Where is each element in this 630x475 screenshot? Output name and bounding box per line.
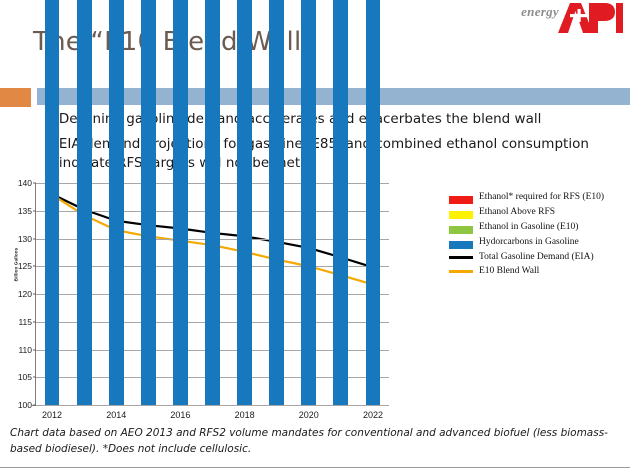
legend-swatch-icon [449,256,473,259]
y-tick-label: 120 [18,289,32,299]
y-tick-label: 100 [18,400,32,410]
legend-swatch-icon [449,270,473,273]
legend-item-ethanol-in-gasoline: Ethanol in Gasoline (E10) [449,221,627,234]
chart-bar [77,183,92,405]
y-tick-mark [33,238,36,239]
bar-segment [366,0,381,405]
y-tick-mark [33,210,36,211]
bullet-text: Declining gasoline demand accelerates an… [59,110,541,129]
bar-segment [77,0,92,405]
chart-bar [173,183,188,405]
y-tick-mark [33,266,36,267]
chart-footnote: Chart data based on AEO 2013 and RFS2 vo… [10,425,610,457]
x-tick-label: 2014 [106,410,126,420]
y-tick-mark [33,183,36,184]
chart-bar [301,183,316,405]
chart-legend: Ethanol* required for RFS (E10)Ethanol A… [449,191,627,279]
chart-bar [366,183,381,405]
bar-segment [45,0,60,405]
y-tick-label: 135 [18,206,32,216]
x-tick-label: 2022 [363,410,383,420]
x-tick-label: 2016 [170,410,190,420]
y-tick-label: 125 [18,261,32,271]
x-tick-label: 2012 [42,410,62,420]
legend-swatch-icon [449,211,473,219]
y-tick-label: 130 [18,234,32,244]
x-tick-label: 2020 [299,410,319,420]
chart-bar [333,183,348,405]
legend-label: Ethanol in Gasoline (E10) [479,221,624,233]
api-energy-logo: energy [521,2,624,36]
y-tick-mark [33,294,36,295]
chart-plot-area: 1001051101151201251301351402012201420162… [36,183,389,405]
legend-swatch-icon [449,196,473,204]
chart-bar [141,183,156,405]
legend-label: Ethanol Above RFS [479,206,624,218]
x-tick-label: 2018 [235,410,255,420]
logo-energy-word: energy [521,4,559,20]
band-orange-block [0,88,31,107]
bar-segment [269,0,284,405]
y-tick-mark [33,321,36,322]
y-tick-label: 140 [18,178,32,188]
legend-item-hydrocarbons-in-gasoline: Hydorcarbons in Gasoline [449,236,627,249]
api-logo-icon [556,2,624,34]
chart-bar [109,183,124,405]
legend-item-ethanol-required-rfs: Ethanol* required for RFS (E10) [449,191,627,204]
legend-label: Total Gasoline Demand (EIA) [479,251,624,263]
bottom-divider [0,467,630,468]
y-tick-mark [33,349,36,350]
legend-label: Ethanol* required for RFS (E10) [479,191,624,203]
y-tick-mark [33,377,36,378]
bar-segment [333,0,348,405]
grid-line [36,405,389,406]
y-tick-label: 105 [18,372,32,382]
y-tick-label: 110 [18,345,32,355]
legend-item-ethanol-above-rfs: Ethanol Above RFS [449,206,627,219]
legend-label: Hydorcarbons in Gasoline [479,236,624,248]
y-tick-label: 115 [18,317,32,327]
bar-segment [237,0,252,405]
chart-bar [45,183,60,405]
legend-swatch-icon [449,226,473,234]
bar-segment [301,0,316,405]
y-tick-mark [33,405,36,406]
bar-segment [205,0,220,405]
chart-bar [237,183,252,405]
bar-segment [109,0,124,405]
legend-swatch-icon [449,241,473,249]
legend-label: E10 Blend Wall [479,265,624,277]
bar-segment [173,0,188,405]
legend-item-e10-blend-wall: E10 Blend Wall [449,265,627,277]
chart-bar [269,183,284,405]
legend-item-total-gasoline-demand: Total Gasoline Demand (EIA) [449,251,627,263]
bar-segment [141,0,156,405]
chart-bar [205,183,220,405]
